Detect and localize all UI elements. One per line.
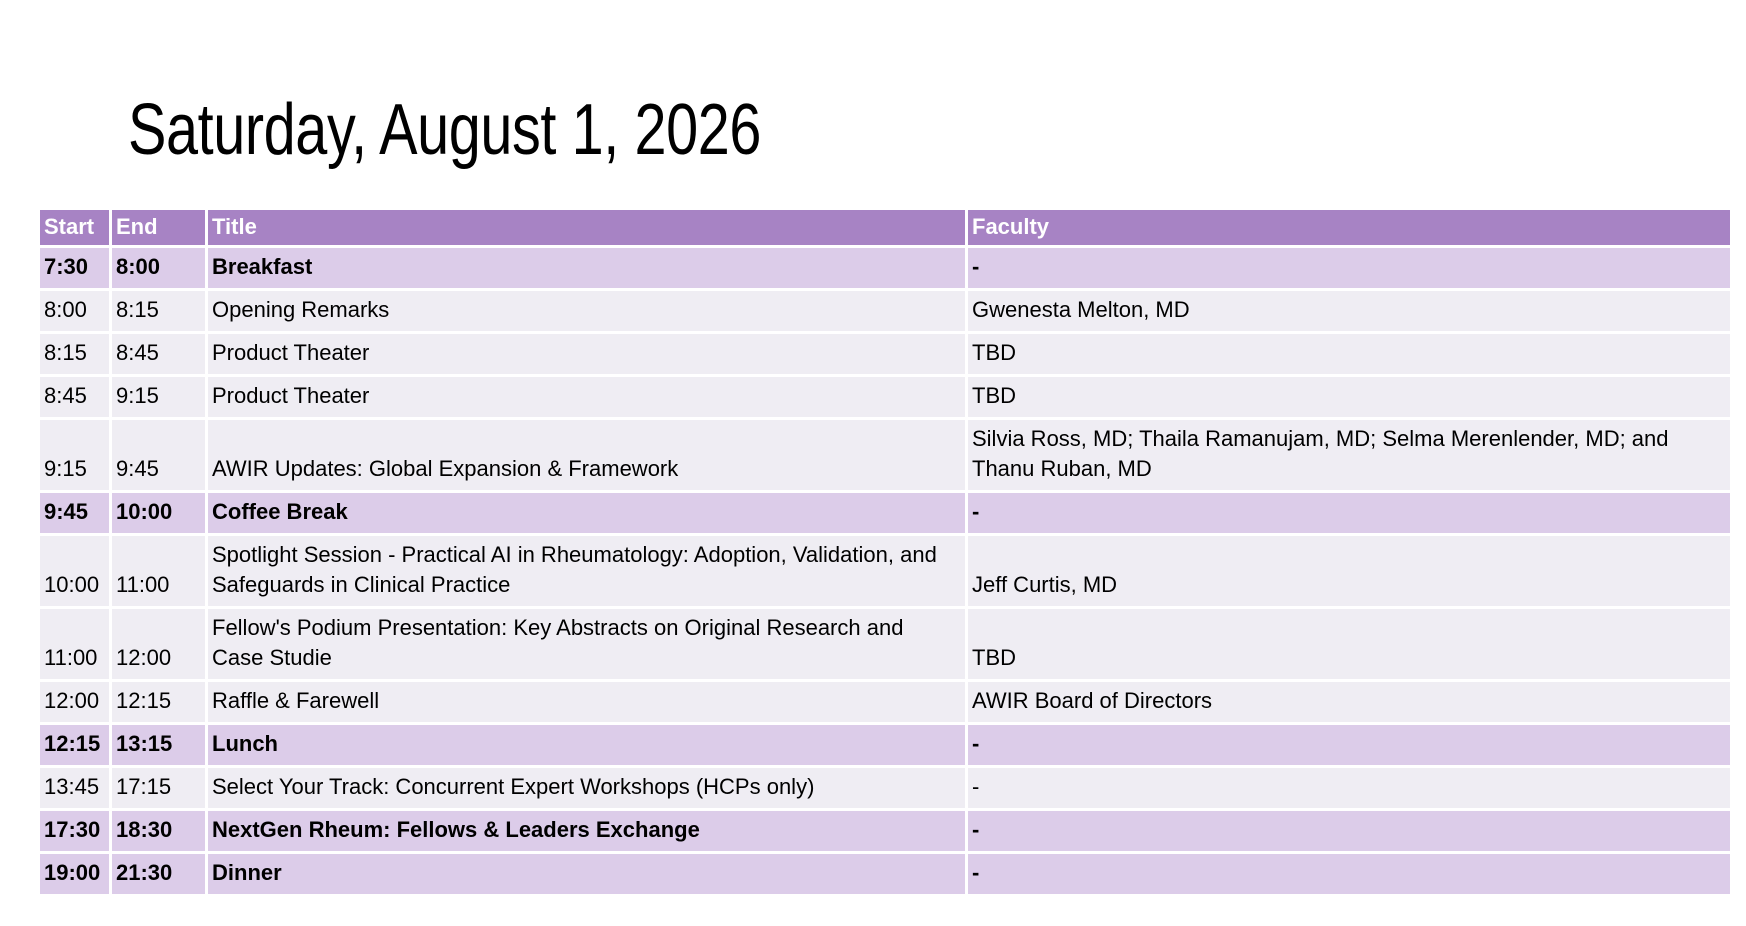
cell-faculty: TBD — [968, 377, 1730, 420]
cell-faculty: TBD — [968, 334, 1730, 377]
table-row: 12:0012:15Raffle & FarewellAWIR Board of… — [40, 682, 1730, 725]
cell-end: 9:15 — [112, 377, 208, 420]
cell-faculty: - — [968, 768, 1730, 811]
cell-start: 8:00 — [40, 291, 112, 334]
table-row: 13:4517:15Select Your Track: Concurrent … — [40, 768, 1730, 811]
cell-title: Raffle & Farewell — [208, 682, 968, 725]
cell-end: 17:15 — [112, 768, 208, 811]
cell-start: 9:15 — [40, 420, 112, 493]
table-row: 9:159:45AWIR Updates: Global Expansion &… — [40, 420, 1730, 493]
cell-end: 9:45 — [112, 420, 208, 493]
table-row: 19:0021:30Dinner- — [40, 854, 1730, 897]
cell-end: 13:15 — [112, 725, 208, 768]
table-row: 10:0011:00Spotlight Session - Practical … — [40, 536, 1730, 609]
cell-end: 10:00 — [112, 493, 208, 536]
cell-faculty: TBD — [968, 609, 1730, 682]
slide: Saturday, August 1, 2026 Start End Title… — [0, 0, 1746, 926]
cell-start: 17:30 — [40, 811, 112, 854]
table-body: 7:308:00Breakfast-8:008:15Opening Remark… — [40, 248, 1730, 897]
cell-title: Coffee Break — [208, 493, 968, 536]
cell-title: AWIR Updates: Global Expansion & Framewo… — [208, 420, 968, 493]
cell-start: 19:00 — [40, 854, 112, 897]
cell-title: Lunch — [208, 725, 968, 768]
column-header-end: End — [112, 210, 208, 248]
cell-start: 8:45 — [40, 377, 112, 420]
table-row: 8:459:15Product TheaterTBD — [40, 377, 1730, 420]
cell-start: 8:15 — [40, 334, 112, 377]
cell-start: 9:45 — [40, 493, 112, 536]
table-row: 8:008:15Opening RemarksGwenesta Melton, … — [40, 291, 1730, 334]
table-row: 9:4510:00Coffee Break- — [40, 493, 1730, 536]
cell-faculty: AWIR Board of Directors — [968, 682, 1730, 725]
table-row: 7:308:00Breakfast- — [40, 248, 1730, 291]
cell-start: 12:15 — [40, 725, 112, 768]
cell-title: NextGen Rheum: Fellows & Leaders Exchang… — [208, 811, 968, 854]
cell-faculty: Silvia Ross, MD; Thaila Ramanujam, MD; S… — [968, 420, 1730, 493]
cell-faculty: - — [968, 811, 1730, 854]
page-title: Saturday, August 1, 2026 — [128, 86, 761, 174]
cell-end: 12:00 — [112, 609, 208, 682]
cell-end: 18:30 — [112, 811, 208, 854]
cell-start: 13:45 — [40, 768, 112, 811]
table-row: 17:3018:30NextGen Rheum: Fellows & Leade… — [40, 811, 1730, 854]
cell-title: Dinner — [208, 854, 968, 897]
cell-title: Fellow's Podium Presentation: Key Abstra… — [208, 609, 968, 682]
cell-faculty: Jeff Curtis, MD — [968, 536, 1730, 609]
cell-end: 8:15 — [112, 291, 208, 334]
cell-title: Product Theater — [208, 377, 968, 420]
cell-start: 12:00 — [40, 682, 112, 725]
cell-faculty: - — [968, 248, 1730, 291]
cell-title: Product Theater — [208, 334, 968, 377]
agenda-table: Start End Title Faculty 7:308:00Breakfas… — [40, 210, 1730, 897]
cell-title: Spotlight Session - Practical AI in Rheu… — [208, 536, 968, 609]
cell-end: 8:00 — [112, 248, 208, 291]
cell-start: 11:00 — [40, 609, 112, 682]
column-header-start: Start — [40, 210, 112, 248]
cell-start: 7:30 — [40, 248, 112, 291]
table-header-row: Start End Title Faculty — [40, 210, 1730, 248]
cell-faculty: - — [968, 725, 1730, 768]
table-row: 12:1513:15Lunch- — [40, 725, 1730, 768]
agenda-table-container: Start End Title Faculty 7:308:00Breakfas… — [40, 210, 1730, 897]
table-row: 8:158:45Product TheaterTBD — [40, 334, 1730, 377]
cell-end: 11:00 — [112, 536, 208, 609]
cell-end: 21:30 — [112, 854, 208, 897]
cell-faculty: - — [968, 493, 1730, 536]
cell-faculty: - — [968, 854, 1730, 897]
cell-title: Select Your Track: Concurrent Expert Wor… — [208, 768, 968, 811]
cell-title: Breakfast — [208, 248, 968, 291]
table-header: Start End Title Faculty — [40, 210, 1730, 248]
cell-faculty: Gwenesta Melton, MD — [968, 291, 1730, 334]
cell-end: 8:45 — [112, 334, 208, 377]
column-header-faculty: Faculty — [968, 210, 1730, 248]
cell-title: Opening Remarks — [208, 291, 968, 334]
column-header-title: Title — [208, 210, 968, 248]
cell-end: 12:15 — [112, 682, 208, 725]
table-row: 11:0012:00Fellow's Podium Presentation: … — [40, 609, 1730, 682]
cell-start: 10:00 — [40, 536, 112, 609]
